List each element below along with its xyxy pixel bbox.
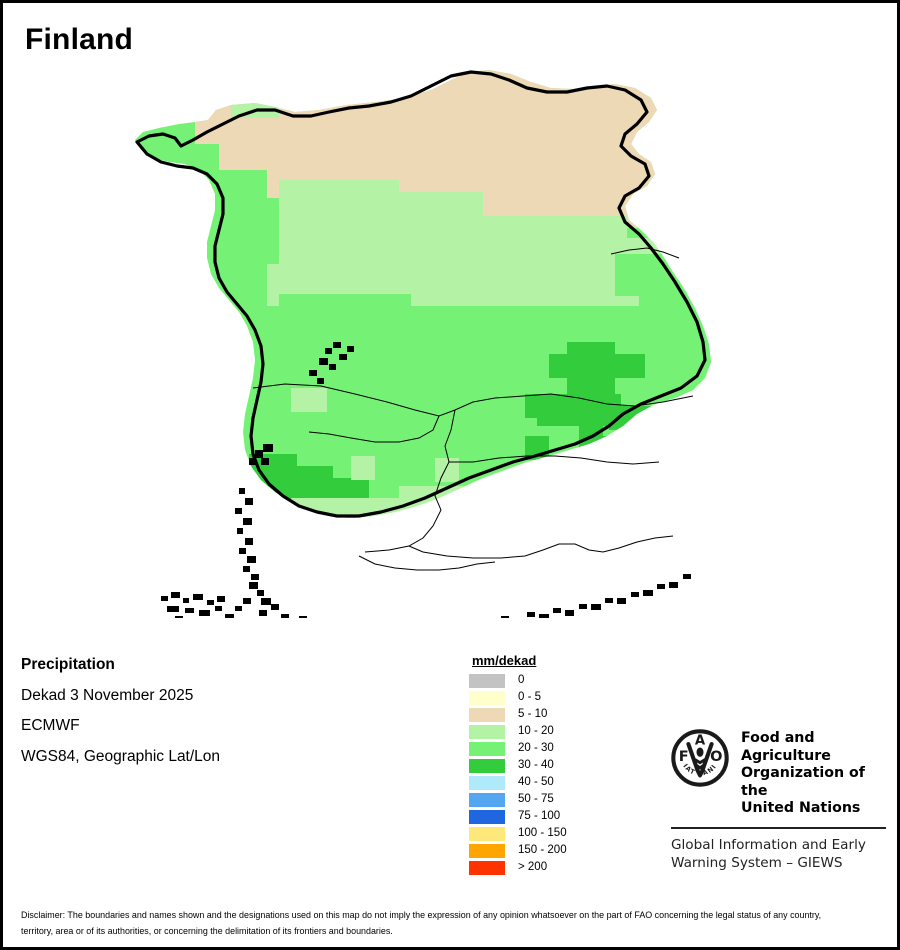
fao-logo-letter-f: F <box>679 749 689 765</box>
legend-item[interactable]: 75 - 100 <box>469 808 567 825</box>
legend-swatch-4 <box>469 742 505 756</box>
legend-swatch-3 <box>469 725 505 739</box>
legend-item[interactable]: 40 - 50 <box>469 774 567 791</box>
legend-item[interactable]: 30 - 40 <box>469 757 567 774</box>
legend-label-3: 10 - 20 <box>509 723 567 740</box>
legend-swatch-2 <box>469 708 505 722</box>
caption-period: Dekad 3 November 2025 <box>21 687 220 705</box>
legend-title: mm/dekad <box>472 653 567 668</box>
legend-label-1: 0 - 5 <box>509 689 567 706</box>
legend-item[interactable]: 0 <box>469 672 567 689</box>
legend-label-2: 5 - 10 <box>509 706 567 723</box>
legend-label-10: 150 - 200 <box>509 842 567 859</box>
legend-item[interactable]: 5 - 10 <box>469 706 567 723</box>
fao-branding: F A O FIAT PANIS Food and Agriculture Or… <box>671 729 886 872</box>
legend-label-0: 0 <box>509 672 567 689</box>
giews-line1: Global Information and Early <box>671 837 886 855</box>
map-caption: Precipitation Dekad 3 November 2025 ECMW… <box>21 656 220 778</box>
fao-org-name: Food and Agriculture Organization of the… <box>741 729 886 818</box>
legend-item[interactable]: 50 - 75 <box>469 791 567 808</box>
legend-swatch-0 <box>469 674 505 688</box>
raster-cells <box>103 58 803 618</box>
fao-logo-icon: F A O FIAT PANIS <box>671 729 729 787</box>
legend-swatch-1 <box>469 691 505 705</box>
legend-swatch-7 <box>469 793 505 807</box>
legend-swatch-5 <box>469 759 505 773</box>
fao-org-line3: United Nations <box>741 800 886 818</box>
map-page: Finland <box>0 0 900 950</box>
legend-label-6: 40 - 50 <box>509 774 567 791</box>
fao-divider <box>671 827 886 829</box>
caption-source: ECMWF <box>21 717 220 735</box>
nw-arm-green-patch <box>231 94 279 118</box>
giews-line2: Warning System – GIEWS <box>671 855 886 873</box>
legend-swatch-10 <box>469 844 505 858</box>
legend-swatch-9 <box>469 827 505 841</box>
legend-swatch-8 <box>469 810 505 824</box>
legend-label-11: > 200 <box>509 859 567 876</box>
legend-label-8: 75 - 100 <box>509 808 567 825</box>
fao-logo-letter-o: O <box>710 749 722 765</box>
disclaimer-text: Disclaimer: The boundaries and names sho… <box>21 908 823 939</box>
legend-item[interactable]: 20 - 30 <box>469 740 567 757</box>
precipitation-choropleth-map <box>3 58 900 618</box>
legend-item[interactable]: 100 - 150 <box>469 825 567 842</box>
legend-label-4: 20 - 30 <box>509 740 567 757</box>
fao-logo-letter-a: A <box>695 734 706 749</box>
fao-org-line1: Food and Agriculture <box>741 730 886 765</box>
legend-label-9: 100 - 150 <box>509 825 567 842</box>
legend-swatch-6 <box>469 776 505 790</box>
fao-org-line2: Organization of the <box>741 765 886 800</box>
legend-item[interactable]: 10 - 20 <box>469 723 567 740</box>
page-title: Finland <box>25 23 133 57</box>
legend-swatch-11 <box>469 861 505 875</box>
caption-variable: Precipitation <box>21 656 220 674</box>
giews-label: Global Information and Early Warning Sys… <box>671 837 886 872</box>
legend-label-7: 50 - 75 <box>509 791 567 808</box>
map-legend: mm/dekad 0 0 - 5 5 - 10 10 - 20 20 - 30 … <box>469 653 567 876</box>
legend-label-5: 30 - 40 <box>509 757 567 774</box>
legend-item[interactable]: 150 - 200 <box>469 842 567 859</box>
legend-table: 0 0 - 5 5 - 10 10 - 20 20 - 30 30 - 40 4… <box>469 672 567 876</box>
caption-projection: WGS84, Geographic Lat/Lon <box>21 748 220 766</box>
legend-item[interactable]: 0 - 5 <box>469 689 567 706</box>
legend-item[interactable]: > 200 <box>469 859 567 876</box>
